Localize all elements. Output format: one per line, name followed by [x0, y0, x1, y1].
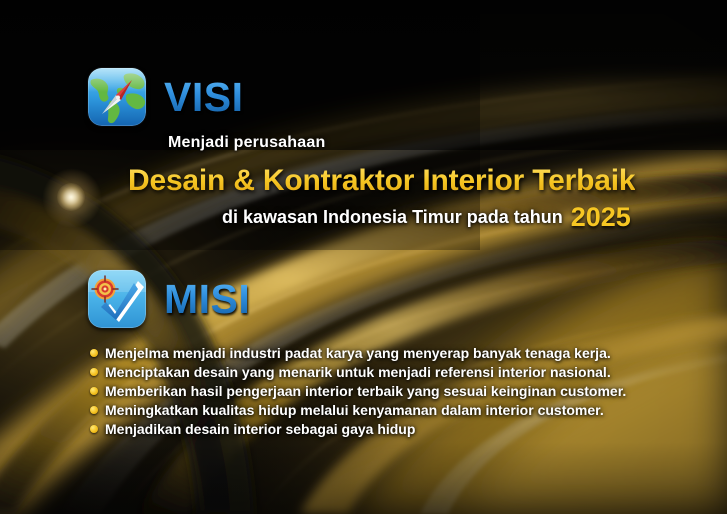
- visi-title: VISI: [164, 77, 243, 118]
- bullet-dot-icon: [90, 387, 98, 395]
- visi-year: 2025: [571, 202, 631, 232]
- visi-subtitle: Menjadi perusahaan: [168, 134, 325, 152]
- misi-list-item: Menjelma menjadi industri padat karya ya…: [90, 345, 626, 362]
- bullet-dot-icon: [90, 368, 98, 376]
- visi-tagline: di kawasan Indonesia Timur pada tahun202…: [222, 202, 631, 233]
- visi-section-header: VISI: [88, 68, 243, 126]
- misi-list-item: Memberikan hasil pengerjaan interior ter…: [90, 383, 626, 400]
- slide-content: VISI Menjadi perusahaan Desain & Kontrak…: [0, 0, 727, 514]
- misi-list: Menjelma menjadi industri padat karya ya…: [90, 345, 626, 440]
- misi-list-item-label: Meningkatkan kualitas hidup melalui keny…: [105, 402, 604, 419]
- target-check-icon: [88, 270, 146, 328]
- misi-list-item-label: Menjadikan desain interior sebagai gaya …: [105, 421, 415, 438]
- bullet-dot-icon: [90, 349, 98, 357]
- misi-title: MISI: [164, 279, 250, 320]
- misi-list-item-label: Menciptakan desain yang menarik untuk me…: [105, 364, 611, 381]
- compass-globe-icon: [88, 68, 146, 126]
- misi-list-item: Menjadikan desain interior sebagai gaya …: [90, 421, 626, 438]
- visi-tagline-text: di kawasan Indonesia Timur pada tahun: [222, 207, 563, 227]
- misi-list-item-label: Menjelma menjadi industri padat karya ya…: [105, 345, 611, 362]
- misi-section-header: MISI: [88, 270, 250, 328]
- bullet-dot-icon: [90, 425, 98, 433]
- misi-list-item: Meningkatkan kualitas hidup melalui keny…: [90, 402, 626, 419]
- visi-headline: Desain & Kontraktor Interior Terbaik: [128, 164, 635, 198]
- misi-list-item-label: Memberikan hasil pengerjaan interior ter…: [105, 383, 626, 400]
- compass-globe-icon-art: [88, 68, 146, 126]
- slide-canvas: VISI Menjadi perusahaan Desain & Kontrak…: [0, 0, 727, 514]
- misi-list-item: Menciptakan desain yang menarik untuk me…: [90, 364, 626, 381]
- bullet-dot-icon: [90, 406, 98, 414]
- target-check-icon-art: [88, 270, 146, 328]
